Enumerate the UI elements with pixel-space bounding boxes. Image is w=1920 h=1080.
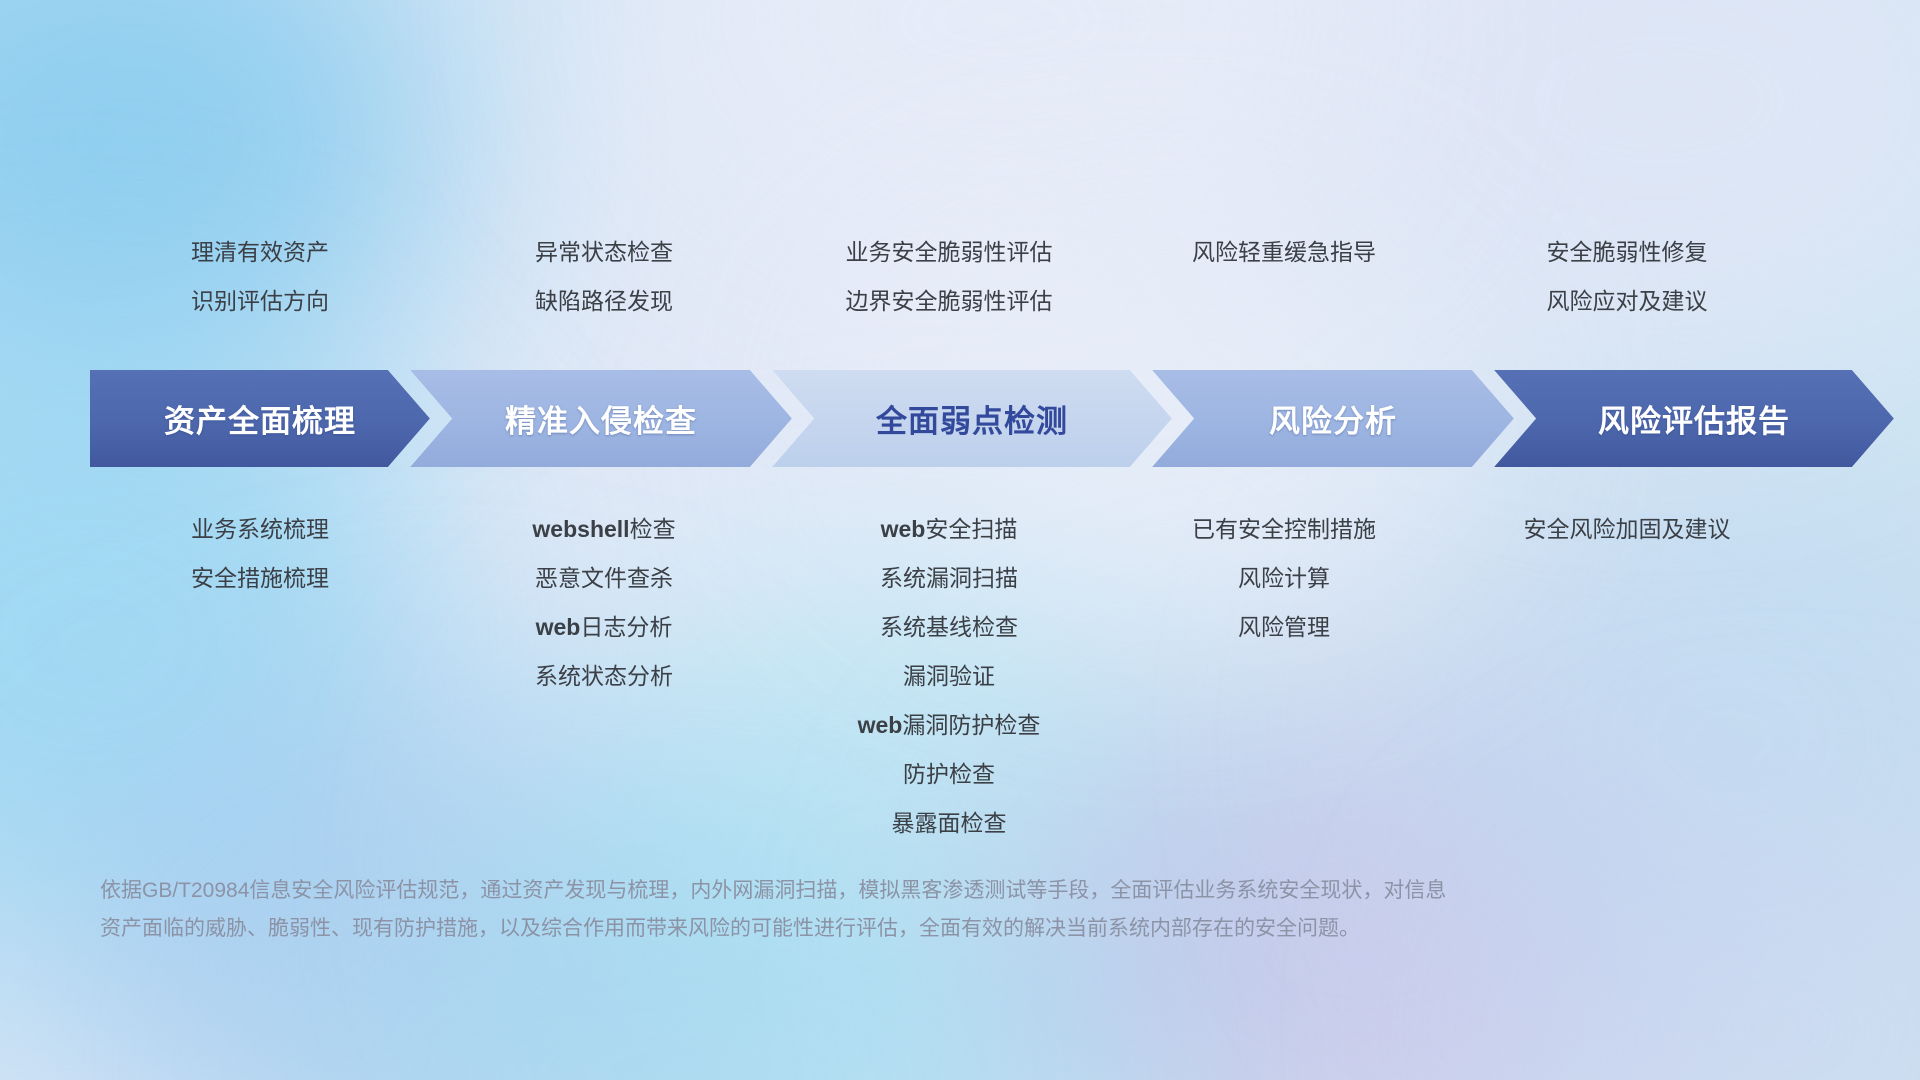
stage-title: 风险分析: [1269, 396, 1397, 441]
stage-title: 全面弱点检测: [876, 396, 1068, 441]
detail-item-keyword: webshell: [532, 516, 629, 542]
detail-item: 安全措施梳理: [110, 554, 410, 603]
stage-arrow-3[interactable]: 全面弱点检测: [772, 370, 1172, 467]
bottom-detail-row: 业务系统梳理安全措施梳理 webshell检查恶意文件查杀web日志分析系统状态…: [90, 505, 1830, 848]
detail-item: 恶意文件查杀: [454, 554, 754, 603]
detail-item: 漏洞验证: [784, 652, 1114, 701]
detail-list-stage-2: webshell检查恶意文件查杀web日志分析系统状态分析: [454, 505, 754, 848]
detail-item-keyword: web: [858, 712, 903, 738]
footer-line: 资产面临的威胁、脆弱性、现有防护措施，以及综合作用而带来风险的可能性进行评估，全…: [100, 910, 1800, 948]
detail-item: 防护检查: [784, 750, 1114, 799]
stage-title: 精准入侵检查: [505, 396, 697, 441]
detail-list-stage-5: 安全风险加固及建议: [1462, 505, 1792, 848]
detail-item: webshell检查: [454, 505, 754, 554]
top-label: 异常状态检查: [454, 228, 754, 277]
top-label: 识别评估方向: [110, 277, 410, 326]
stage-title: 风险评估报告: [1598, 396, 1790, 441]
footer-line: 依据GB/T20984信息安全风险评估规范，通过资产发现与梳理，内外网漏洞扫描，…: [100, 872, 1800, 910]
stage-arrow-4[interactable]: 风险分析: [1152, 370, 1514, 467]
detail-item: web安全扫描: [784, 505, 1114, 554]
detail-item: 安全风险加固及建议: [1462, 505, 1792, 554]
detail-list-stage-4: 已有安全控制措施风险计算风险管理: [1134, 505, 1434, 848]
top-labels-stage-1: 理清有效资产 识别评估方向: [110, 228, 410, 326]
top-labels-stage-4: 风险轻重缓急指导: [1134, 228, 1434, 326]
detail-item: 暴露面检查: [784, 799, 1114, 848]
detail-item: 已有安全控制措施: [1134, 505, 1434, 554]
top-labels-stage-2: 异常状态检查 缺陷路径发现: [454, 228, 754, 326]
detail-item: 系统漏洞扫描: [784, 554, 1114, 603]
detail-item: 系统状态分析: [454, 652, 754, 701]
top-label: 风险轻重缓急指导: [1134, 228, 1434, 277]
top-label: 边界安全脆弱性评估: [784, 277, 1114, 326]
stage-arrow-1[interactable]: 资产全面梳理: [90, 370, 430, 467]
detail-item: 业务系统梳理: [110, 505, 410, 554]
detail-item-keyword: web: [536, 614, 581, 640]
top-label: 理清有效资产: [110, 228, 410, 277]
detail-item: web漏洞防护检查: [784, 701, 1114, 750]
top-labels-stage-3: 业务安全脆弱性评估 边界安全脆弱性评估: [784, 228, 1114, 326]
detail-item: 系统基线检查: [784, 603, 1114, 652]
footer-description: 依据GB/T20984信息安全风险评估规范，通过资产发现与梳理，内外网漏洞扫描，…: [100, 872, 1800, 948]
top-label-row: 理清有效资产 识别评估方向 异常状态检查 缺陷路径发现 业务安全脆弱性评估 边界…: [90, 228, 1830, 326]
stage-arrow-5[interactable]: 风险评估报告: [1494, 370, 1894, 467]
top-label: 风险应对及建议: [1462, 277, 1792, 326]
top-label: 业务安全脆弱性评估: [784, 228, 1114, 277]
detail-list-stage-1: 业务系统梳理安全措施梳理: [110, 505, 410, 848]
top-label: 安全脆弱性修复: [1462, 228, 1792, 277]
stage-arrow-band: 资产全面梳理 精准入侵检查 全面弱点检测 风险分析 风险评估报告: [90, 370, 1835, 467]
detail-item: 风险管理: [1134, 603, 1434, 652]
detail-item: 风险计算: [1134, 554, 1434, 603]
detail-list-stage-3: web安全扫描系统漏洞扫描系统基线检查漏洞验证web漏洞防护检查防护检查暴露面检…: [784, 505, 1114, 848]
stage-title: 资产全面梳理: [164, 396, 356, 441]
stage-arrow-2[interactable]: 精准入侵检查: [410, 370, 792, 467]
top-label: 缺陷路径发现: [454, 277, 754, 326]
process-diagram: 理清有效资产 识别评估方向 异常状态检查 缺陷路径发现 业务安全脆弱性评估 边界…: [0, 0, 1920, 1080]
detail-item-keyword: web: [881, 516, 926, 542]
detail-item: web日志分析: [454, 603, 754, 652]
top-labels-stage-5: 安全脆弱性修复 风险应对及建议: [1462, 228, 1792, 326]
